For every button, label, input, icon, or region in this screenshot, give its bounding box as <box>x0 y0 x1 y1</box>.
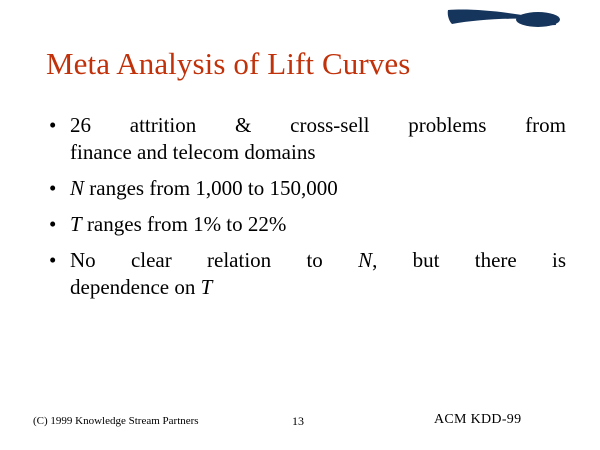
footer-copyright: (C) 1999 Knowledge Stream Partners <box>33 414 199 428</box>
variable-t: T <box>70 212 82 236</box>
bullet-4-line-1b: , but there is <box>372 248 566 272</box>
bullet-dot-icon: • <box>49 112 63 139</box>
page-title: Meta Analysis of Lift Curves <box>46 46 566 82</box>
variable-n: N <box>70 176 84 200</box>
bullet-4-line-1a: No clear relation to <box>70 248 358 272</box>
bullet-1-line-1: 26 attrition & cross-sell problems from <box>70 112 566 139</box>
variable-n: N <box>358 248 372 272</box>
bullet-text-3: T ranges from 1% to 22% <box>70 211 566 238</box>
list-item: • No clear relation to N, but there is d… <box>46 247 566 301</box>
bullet-text-4: No clear relation to N, but there is dep… <box>70 247 566 301</box>
list-item: • T ranges from 1% to 22% <box>46 211 566 238</box>
slide-canvas: Meta Analysis of Lift Curves • 26 attrit… <box>0 0 600 450</box>
list-item: • N ranges from 1,000 to 150,000 <box>46 175 566 202</box>
bullet-dot-icon: • <box>49 175 63 202</box>
bullet-text-2: N ranges from 1,000 to 150,000 <box>70 175 566 202</box>
bullet-dot-icon: • <box>49 247 63 274</box>
footer-conference: ACM KDD-99 <box>434 411 521 428</box>
bullet-4-line-1: No clear relation to N, but there is <box>70 247 566 274</box>
list-item: • 26 attrition & cross-sell problems fro… <box>46 112 566 166</box>
bullet-list: • 26 attrition & cross-sell problems fro… <box>46 112 566 301</box>
footer-page-number: 13 <box>270 414 326 428</box>
bullet-dot-icon: • <box>49 211 63 238</box>
bullet-4-line-2: dependence on T <box>70 274 566 301</box>
bullet-2-rest: ranges from 1,000 to 150,000 <box>84 176 338 200</box>
bullet-3-rest: ranges from 1% to 22% <box>82 212 287 236</box>
bullet-4-line-2a: dependence on <box>70 275 201 299</box>
bullet-text-1: 26 attrition & cross-sell problems from … <box>70 112 566 166</box>
variable-t: T <box>201 275 213 299</box>
bullet-1-line-2: finance and telecom domains <box>70 139 566 166</box>
swoosh-logo <box>446 1 561 31</box>
